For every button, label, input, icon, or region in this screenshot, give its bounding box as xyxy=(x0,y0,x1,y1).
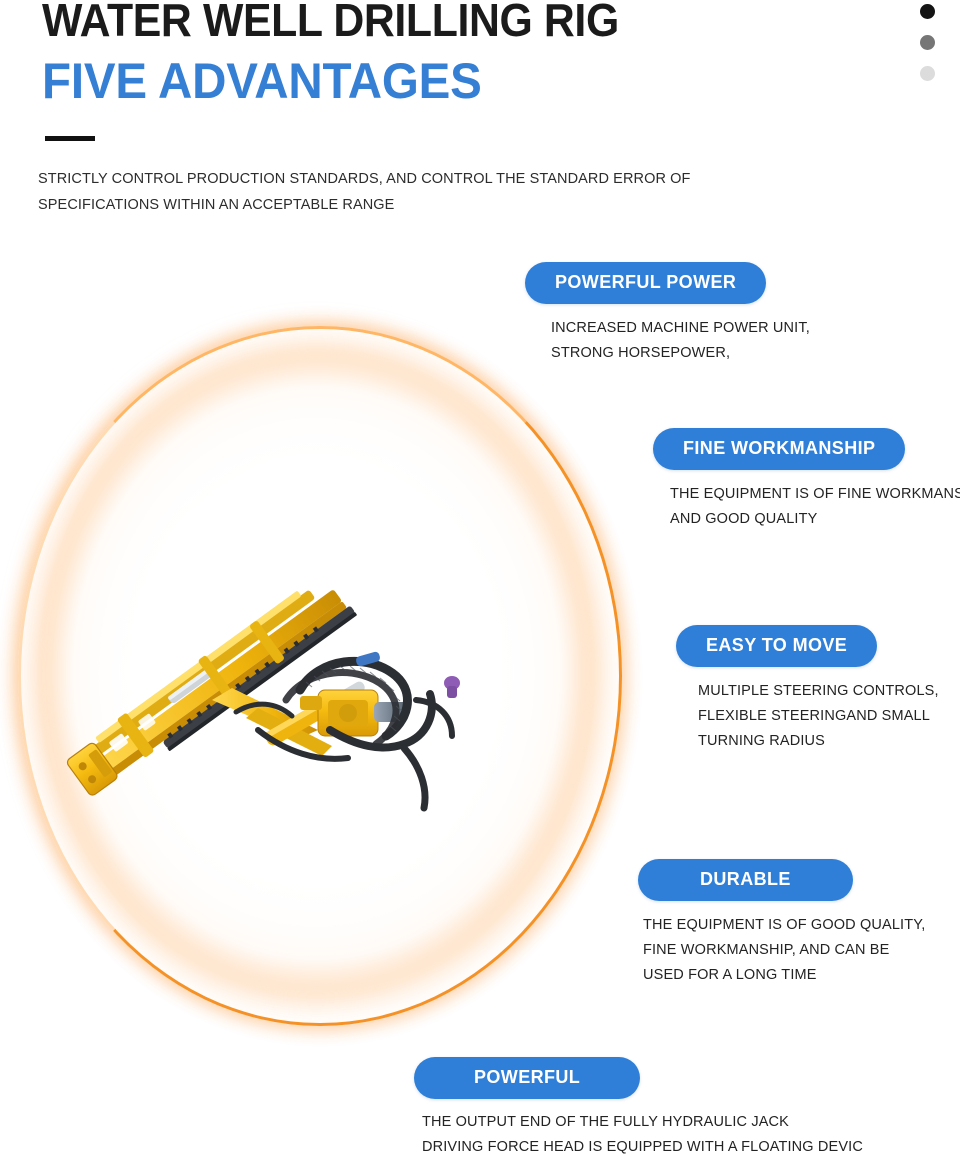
feature-item-durable: DURABLE THE EQUIPMENT IS OF GOOD QUALITY… xyxy=(638,859,925,988)
title-underline-rule xyxy=(45,136,95,141)
feature-item-fine-workmanship: FINE WORKMANSHIP THE EQUIPMENT IS OF FIN… xyxy=(653,428,960,532)
pager-dot-1[interactable] xyxy=(920,4,935,19)
feature-desc-line: MULTIPLE STEERING CONTROLS, xyxy=(698,679,939,704)
feature-item-easy-to-move: EASY TO MOVE MULTIPLE STEERING CONTROLS,… xyxy=(676,625,939,754)
page-title: WATER WELL DRILLING RIG xyxy=(42,0,693,46)
page-description: STRICTLY CONTROL PRODUCTION STANDARDS, A… xyxy=(38,166,728,218)
feature-item-powerful-power: POWERFUL POWER INCREASED MACHINE POWER U… xyxy=(525,262,810,366)
feature-desc-line: THE EQUIPMENT IS OF GOOD QUALITY, xyxy=(643,913,925,938)
feature-item-powerful: POWERFUL THE OUTPUT END OF THE FULLY HYD… xyxy=(414,1057,863,1158)
feature-description-durable: THE EQUIPMENT IS OF GOOD QUALITY, FINE W… xyxy=(638,913,925,988)
feature-desc-line: INCREASED MACHINE POWER UNIT, xyxy=(551,316,810,341)
feature-desc-line: USED FOR A LONG TIME xyxy=(643,963,925,988)
drilling-rig-image xyxy=(0,400,600,910)
advantages-page: WATER WELL DRILLING RIG FIVE ADVANTAGES … xyxy=(0,0,960,1158)
pager-dots[interactable] xyxy=(916,4,940,97)
feature-desc-line: FINE WORKMANSHIP, AND CAN BE xyxy=(643,938,925,963)
page-heading-group: WATER WELL DRILLING RIG FIVE ADVANTAGES xyxy=(42,0,742,110)
feature-description-fine-workmanship: THE EQUIPMENT IS OF FINE WORKMANSHIP AND… xyxy=(653,482,960,532)
feature-pill-fine-workmanship[interactable]: FINE WORKMANSHIP xyxy=(653,428,905,470)
feature-desc-line: STRONG HORSEPOWER, xyxy=(551,341,810,366)
feature-pill-durable[interactable]: DURABLE xyxy=(638,859,853,901)
pager-dot-3[interactable] xyxy=(920,66,935,81)
feature-description-powerful: THE OUTPUT END OF THE FULLY HYDRAULIC JA… xyxy=(414,1110,863,1158)
feature-desc-line: THE EQUIPMENT IS OF FINE WORKMANSHIP xyxy=(670,482,960,507)
feature-description-easy-to-move: MULTIPLE STEERING CONTROLS, FLEXIBLE STE… xyxy=(676,679,939,754)
feature-desc-line: FLEXIBLE STEERINGAND SMALL xyxy=(698,704,939,729)
feature-desc-line: DRIVING FORCE HEAD IS EQUIPPED WITH A FL… xyxy=(422,1135,863,1158)
feature-desc-line: THE OUTPUT END OF THE FULLY HYDRAULIC JA… xyxy=(422,1110,863,1135)
description-line-2: SPECIFICATIONS WITHIN AN ACCEPTABLE RANG… xyxy=(38,192,728,218)
feature-pill-powerful[interactable]: POWERFUL xyxy=(414,1057,640,1099)
feature-desc-line: TURNING RADIUS xyxy=(698,729,939,754)
feature-pill-easy-to-move[interactable]: EASY TO MOVE xyxy=(676,625,877,667)
feature-pill-powerful-power[interactable]: POWERFUL POWER xyxy=(525,262,766,304)
pager-dot-2[interactable] xyxy=(920,35,935,50)
feature-description-powerful-power: INCREASED MACHINE POWER UNIT, STRONG HOR… xyxy=(525,316,810,366)
description-line-1: STRICTLY CONTROL PRODUCTION STANDARDS, A… xyxy=(38,166,728,192)
page-subtitle-highlight: FIVE ADVANTAGES xyxy=(42,52,707,110)
feature-desc-line: AND GOOD QUALITY xyxy=(670,507,960,532)
